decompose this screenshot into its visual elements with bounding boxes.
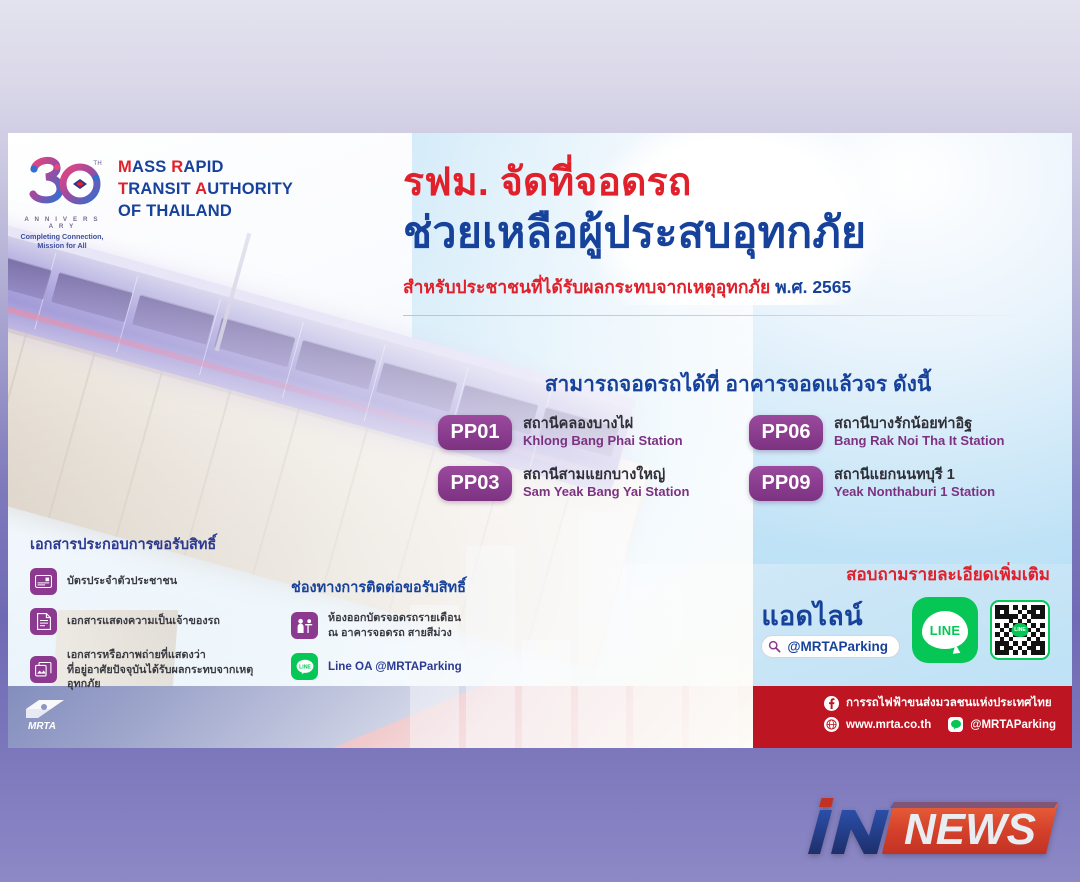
station-item[interactable]: PP06 สถานีบางรักน้อยท่าอิฐ Bang Rak Noi … bbox=[749, 415, 1038, 450]
station-name-en: Yeak Nonthaburi 1 Station bbox=[834, 484, 995, 501]
globe-icon bbox=[824, 717, 839, 732]
svg-text:LINE: LINE bbox=[299, 664, 311, 670]
line-heading: สอบถามรายละเอียดเพิ่มเติม bbox=[761, 561, 1050, 588]
qr-center-logo: LINE bbox=[1012, 623, 1029, 637]
station-item[interactable]: PP03 สถานีสามแยกบางใหญ่ Sam Yeak Bang Ya… bbox=[438, 466, 727, 501]
line-icon bbox=[948, 717, 963, 732]
footer-line[interactable]: @MRTAParking bbox=[948, 717, 1056, 732]
station-name-en: Bang Rak Noi Tha It Station bbox=[834, 433, 1004, 450]
station-names: สถานีบางรักน้อยท่าอิฐ Bang Rak Noi Tha I… bbox=[834, 415, 1004, 450]
facebook-icon bbox=[824, 696, 839, 711]
station-name-th: สถานีบางรักน้อยท่าอิฐ bbox=[834, 415, 1004, 433]
subtitle-text: สำหรับประชาชนที่ได้รับผลกระทบจากเหตุอุทก… bbox=[403, 277, 775, 297]
headline-line-1: รฟม. จัดที่จอดรถ bbox=[403, 161, 1028, 205]
station-names: สถานีสามแยกบางใหญ่ Sam Yeak Bang Yai Sta… bbox=[523, 466, 689, 501]
counter-icon bbox=[291, 612, 318, 639]
qr-logo-label: LINE bbox=[1014, 627, 1025, 633]
documents-section: เอกสารประกอบการขอรับสิทธิ์ บัตรประจำตัวป… bbox=[30, 533, 280, 705]
station-code-badge: PP03 bbox=[438, 466, 512, 501]
footer-website-text: www.mrta.co.th bbox=[846, 719, 931, 731]
subtitle-year: พ.ศ. 2565 bbox=[775, 277, 851, 297]
channels-section: ช่องทางการติดต่อขอรับสิทธิ์ ห้องออกบัตรจ… bbox=[291, 576, 526, 693]
line-icon: LINE bbox=[291, 653, 318, 680]
document-item: เอกสารหรือภาพถ่ายที่แสดงว่า ที่อยู่อาศัย… bbox=[30, 648, 280, 692]
station-code-badge: PP09 bbox=[749, 466, 823, 501]
line-id-pill[interactable]: @MRTAParking bbox=[761, 635, 900, 658]
anniversary-logo: TH A N N I V E R S A R Y Completing Conn… bbox=[20, 153, 104, 250]
anniversary-tagline: Completing Connection, Mission for All bbox=[20, 232, 104, 250]
station-names: สถานีคลองบางไผ่ Khlong Bang Phai Station bbox=[523, 415, 683, 450]
tagline-line2: Mission for All bbox=[37, 241, 86, 250]
id-card-icon bbox=[30, 568, 57, 595]
photos-icon bbox=[30, 656, 57, 683]
trademark-symbol: TH bbox=[93, 161, 102, 167]
channel-text-line1: ห้องออกบัตรจอดรถรายเดือน bbox=[328, 612, 461, 624]
footer-facebook[interactable]: การรถไฟฟ้าขนส่งมวลชนแห่งประเทศไทย bbox=[824, 694, 1056, 712]
document-item: เอกสารแสดงความเป็นเจ้าของรถ bbox=[30, 608, 280, 635]
add-line-label-block: แอดไลน์ @MRTAParking bbox=[761, 603, 900, 658]
document-text: บัตรประจำตัวประชาชน bbox=[67, 574, 177, 589]
tagline-line1: Completing Connection, bbox=[20, 232, 103, 241]
search-icon bbox=[768, 640, 781, 653]
station-name-en: Khlong Bang Phai Station bbox=[523, 433, 683, 450]
headline-line-2: ช่วยเหลือผู้ประสบอุทกภัย bbox=[403, 209, 1028, 259]
station-name-th: สถานีสามแยกบางใหญ่ bbox=[523, 466, 689, 484]
headline-block: รฟม. จัดที่จอดรถ ช่วยเหลือผู้ประสบอุทกภั… bbox=[403, 161, 1028, 316]
channel-item[interactable]: LINE Line OA @MRTAParking bbox=[291, 653, 526, 680]
station-item[interactable]: PP09 สถานีแยกนนทบุรี 1 Yeak Nonthaburi 1… bbox=[749, 466, 1038, 501]
watermark-news-text: NEWS bbox=[904, 805, 1036, 854]
in-news-watermark: NEWS iN bbox=[802, 788, 1072, 870]
line-qr-code[interactable]: LINE bbox=[990, 600, 1050, 660]
channels-title: ช่องทางการติดต่อขอรับสิทธิ์ bbox=[291, 576, 526, 599]
station-names: สถานีแยกนนทบุรี 1 Yeak Nonthaburi 1 Stat… bbox=[834, 466, 995, 501]
document-text-line2: ที่อยู่อาศัยปัจจุบันได้รับผลกระทบจากเหตุ… bbox=[67, 664, 253, 691]
footer-line-text: @MRTAParking bbox=[970, 719, 1056, 731]
footer-contacts: การรถไฟฟ้าขนส่งมวลชนแห่งประเทศไทย www.mr… bbox=[824, 694, 1056, 737]
line-bubble: LINE bbox=[922, 611, 968, 649]
line-row: แอดไลน์ @MRTAParking LINE bbox=[761, 597, 1050, 663]
stations-grid: PP01 สถานีคลองบางไผ่ Khlong Bang Phai St… bbox=[438, 415, 1038, 501]
documents-title: เอกสารประกอบการขอรับสิทธิ์ bbox=[30, 533, 280, 556]
document-text: เอกสารหรือภาพถ่ายที่แสดงว่า ที่อยู่อาศัย… bbox=[67, 648, 280, 692]
footer-website[interactable]: www.mrta.co.th bbox=[824, 717, 931, 732]
line-contact-block: สอบถามรายละเอียดเพิ่มเติม แอดไลน์ @MRTAP… bbox=[761, 561, 1050, 663]
anniversary-mark-icon: TH bbox=[20, 153, 104, 215]
document-text: เอกสารแสดงความเป็นเจ้าของรถ bbox=[67, 614, 220, 629]
station-item[interactable]: PP01 สถานีคลองบางไผ่ Khlong Bang Phai St… bbox=[438, 415, 727, 450]
document-icon bbox=[30, 608, 57, 635]
channel-text: ห้องออกบัตรจอดรถรายเดือน ณ อาคารจอดรถ สา… bbox=[328, 611, 461, 640]
station-code-badge: PP06 bbox=[749, 415, 823, 450]
mrta-name-block: MASS RAPID TRANSIT AUTHORITY OF THAILAND bbox=[118, 153, 293, 222]
poster-card: TH A N N I V E R S A R Y Completing Conn… bbox=[8, 133, 1072, 748]
divider-rule bbox=[403, 315, 1028, 316]
station-code-badge: PP01 bbox=[438, 415, 512, 450]
channel-text: Line OA @MRTAParking bbox=[328, 659, 462, 675]
stations-title: สามารถจอดรถได้ที่ อาคารจอดแล้วจร ดังนี้ bbox=[438, 368, 1038, 401]
document-text-line1: เอกสารหรือภาพถ่ายที่แสดงว่า bbox=[67, 649, 206, 661]
line-id-text: @MRTAParking bbox=[787, 639, 888, 654]
channel-text-line2: ณ อาคารจอดรถ สายสีม่วง bbox=[328, 627, 452, 639]
channel-item: ห้องออกบัตรจอดรถรายเดือน ณ อาคารจอดรถ สา… bbox=[291, 611, 526, 640]
add-line-label: แอดไลน์ bbox=[761, 603, 900, 630]
line-app-icon[interactable]: LINE bbox=[912, 597, 978, 663]
footer-links: www.mrta.co.th @MRTAParking bbox=[824, 717, 1056, 732]
stations-section: สามารถจอดรถได้ที่ อาคารจอดแล้วจร ดังนี้ … bbox=[438, 368, 1038, 501]
anniversary-word: A N N I V E R S A R Y bbox=[20, 216, 104, 230]
mrta-brand-header: TH A N N I V E R S A R Y Completing Conn… bbox=[20, 153, 293, 250]
brand-line-1: MASS RAPID bbox=[118, 157, 293, 179]
document-item: บัตรประจำตัวประชาชน bbox=[30, 568, 280, 595]
line-app-label: LINE bbox=[930, 623, 960, 638]
headline-subtitle: สำหรับประชาชนที่ได้รับผลกระทบจากเหตุอุทก… bbox=[403, 273, 1028, 301]
brand-line-3: OF THAILAND bbox=[118, 201, 293, 223]
footer-facebook-text: การรถไฟฟ้าขนส่งมวลชนแห่งประเทศไทย bbox=[846, 694, 1052, 712]
station-name-th: สถานีแยกนนทบุรี 1 bbox=[834, 466, 995, 484]
station-name-th: สถานีคลองบางไผ่ bbox=[523, 415, 683, 433]
brand-line-2: TRANSIT AUTHORITY bbox=[118, 179, 293, 201]
station-name-en: Sam Yeak Bang Yai Station bbox=[523, 484, 689, 501]
